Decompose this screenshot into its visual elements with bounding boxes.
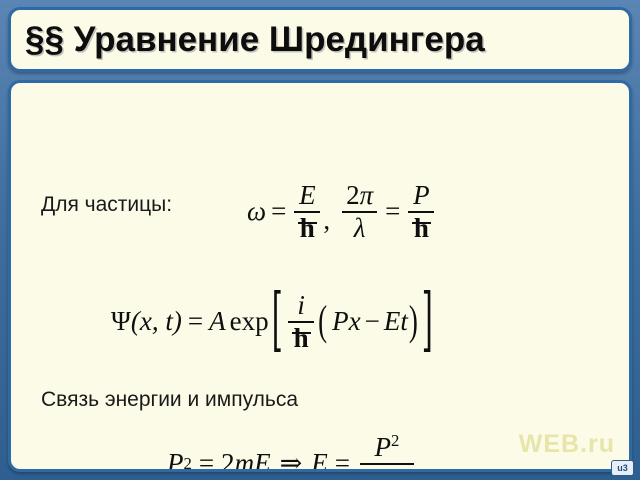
implies-arrow: ⇒ — [280, 448, 303, 472]
denominator-lambda: λ — [350, 214, 370, 243]
term-2me: 2mE — [221, 448, 271, 472]
equals-sign-2: = — [385, 196, 400, 227]
psi-arguments: (x, t) — [131, 306, 182, 337]
hbar-icon: h — [293, 324, 310, 353]
watermark-text: WEB.ru — [519, 430, 615, 459]
momentum-symbol: P — [167, 448, 184, 472]
denominator-hbar: h — [409, 214, 434, 243]
equals-sign-2: = — [335, 448, 350, 472]
denominator-hbar: h — [289, 324, 314, 353]
denominator-2m: 2m — [366, 466, 407, 472]
denominator-hbar: h — [295, 214, 320, 243]
bracket-close: ] — [422, 282, 433, 361]
numerator-p-squared: P2 — [371, 433, 404, 462]
fraction-energy-over-hbar: E h — [294, 181, 320, 242]
fraction-psquared-over-2m: P2 2m — [360, 433, 414, 472]
energy-symbol: E — [311, 448, 328, 472]
term-px: Px — [332, 306, 360, 337]
equals-sign-1: = — [271, 196, 286, 227]
numerator-two-pi: 2π — [342, 181, 377, 210]
equation-dispersion: ω = E h , 2π λ = P h — [247, 181, 437, 242]
term-et: Et — [384, 306, 408, 337]
title-plate: §§ Уравнение Шредингера — [8, 7, 632, 72]
content-plate: Для частицы: ω = E h , 2π λ = P h — [8, 80, 632, 472]
numerator-momentum: P — [409, 181, 434, 210]
numerator-energy: E — [295, 181, 320, 210]
amplitude-symbol: A — [209, 306, 226, 337]
numerator-imaginary-unit: i — [293, 291, 309, 320]
label-for-particle: Для частицы: — [41, 193, 172, 217]
omega-symbol: ω — [247, 196, 266, 227]
equals-sign-1: = — [199, 448, 214, 472]
status-badge[interactable]: u3 — [611, 460, 634, 476]
bracket-open: [ — [271, 282, 282, 361]
label-energy-momentum-relation: Связь энергии и импульса — [41, 388, 298, 412]
slide-canvas: §§ Уравнение Шредингера Для частицы: ω =… — [0, 0, 640, 480]
fraction-i-over-hbar: i h — [288, 291, 314, 352]
exp-operator: exp — [230, 306, 269, 337]
minus-sign: − — [365, 306, 380, 337]
comma-separator: , — [323, 205, 330, 242]
page-title: §§ Уравнение Шредингера — [11, 22, 485, 57]
equation-momentum: P 2 = 2mE ⇒ E = P2 2m — [167, 433, 417, 472]
hbar-icon: h — [413, 214, 430, 243]
equals-sign: = — [188, 306, 203, 337]
psi-symbol: Ψ — [111, 306, 131, 337]
paren-open: ( — [318, 298, 327, 346]
equation-wavefunction: Ψ (x, t) = A exp [ i h ( Px − Et ) ] — [111, 291, 435, 352]
hbar-icon: h — [299, 214, 316, 243]
fraction-twopi-over-lambda: 2π λ — [342, 181, 377, 242]
paren-close: ) — [409, 298, 418, 346]
fraction-momentum-over-hbar: P h — [408, 181, 434, 242]
